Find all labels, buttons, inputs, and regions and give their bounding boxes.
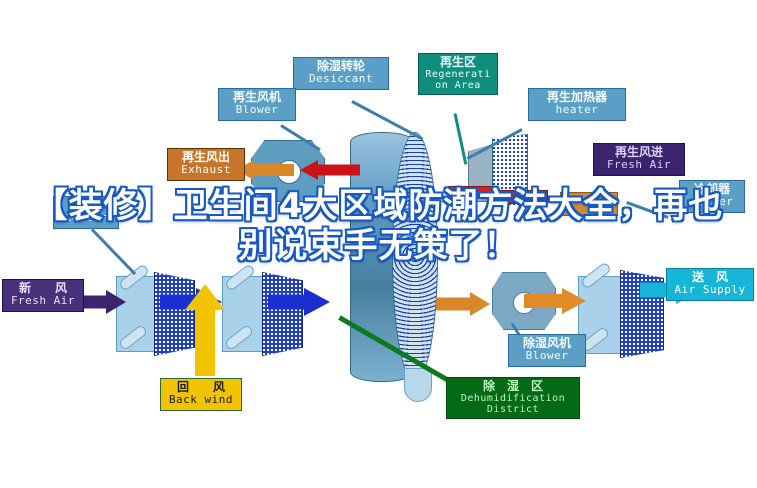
label-dehumidification-blower-en: Blower [513, 350, 581, 362]
arrow-blower-out-flow [524, 288, 586, 314]
diagram-canvas: 【装修】卫生间4大区域防潮方法大全，再也别说束手无策了！ 除湿转轮 Desicc… [0, 0, 757, 488]
label-regeneration-air-in-en: Fresh Air [598, 159, 680, 171]
label-back-wind-en: Back wind [165, 394, 237, 406]
label-regeneration-area: 再生区 Regenerati on Area [418, 53, 498, 95]
label-regeneration-heater: 再生加热器 heater [528, 88, 626, 121]
label-dehumidification-district-en2: District [451, 404, 575, 415]
label-dehumidification-blower: 除湿风机 Blower [508, 334, 586, 367]
arrow-fresh-air-flow [78, 290, 126, 314]
arrow-back-wind-flow [185, 284, 225, 310]
label-dehumidification-district-cn: 除 湿 区 [451, 380, 575, 393]
label-regeneration-area-cn: 再生区 [423, 56, 493, 69]
label-fresh-air-in: 新 风 Fresh Air [2, 279, 84, 312]
label-regeneration-area-en2: on Area [423, 80, 493, 91]
arrow-regen-in-red [300, 160, 358, 180]
label-exhaust: 再生风出 Exhaust [167, 148, 245, 181]
label-back-wind: 回 风 Back wind [160, 378, 242, 411]
label-dehumidification-district: 除 湿 区 Dehumidification District [446, 377, 580, 419]
label-air-supply-en: Air Supply [671, 284, 749, 296]
label-regeneration-heater-cn: 再生加热器 [533, 91, 621, 104]
label-desiccant-wheel-cn: 除湿转轮 [298, 60, 384, 73]
arrow-back-wind-shaft [195, 308, 215, 376]
headline-overlay: 【装修】卫生间4大区域防潮方法大全，再也别说束手无策了！ [0, 186, 757, 266]
desiccant-rotor-shadow [404, 368, 432, 402]
label-regeneration-blower-cn: 再生风机 [223, 91, 291, 104]
label-regeneration-blower: 再生风机 Blower [218, 88, 296, 121]
label-regeneration-heater-en: heater [533, 104, 621, 116]
label-regeneration-air-in: 再生风进 Fresh Air [593, 143, 685, 176]
leader-regen-area [454, 113, 468, 164]
label-fresh-air-in-cn: 新 风 [7, 282, 79, 295]
label-regeneration-air-in-cn: 再生风进 [598, 146, 680, 159]
label-dehumidification-district-en: Dehumidification [451, 393, 575, 404]
label-back-wind-cn: 回 风 [165, 381, 237, 394]
label-desiccant-wheel-en: Desiccant [298, 73, 384, 85]
label-exhaust-cn: 再生风出 [172, 151, 240, 164]
label-dehumidification-blower-cn: 除湿风机 [513, 337, 581, 350]
label-regeneration-blower-en: Blower [223, 104, 291, 116]
arrow-rotor-out-flow [436, 292, 490, 316]
label-air-supply-cn: 送 风 [671, 271, 749, 284]
label-air-supply: 送 风 Air Supply [666, 268, 754, 301]
label-regeneration-area-en: Regenerati [423, 69, 493, 80]
arrow-process-air-flow-2 [268, 288, 330, 316]
label-desiccant-wheel: 除湿转轮 Desiccant [293, 57, 389, 90]
label-exhaust-en: Exhaust [172, 164, 240, 176]
label-fresh-air-in-en: Fresh Air [7, 295, 79, 307]
